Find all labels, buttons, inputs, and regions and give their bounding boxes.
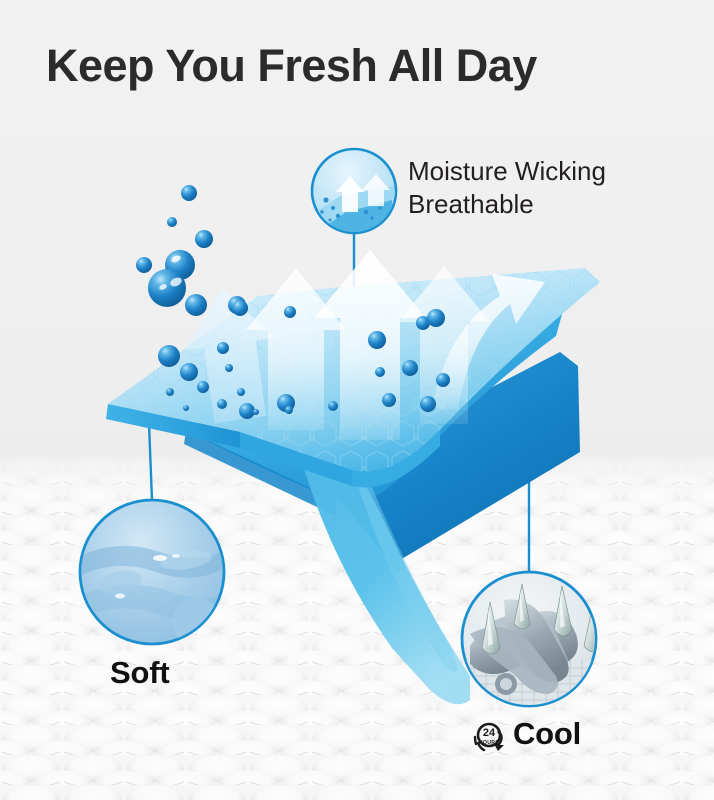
badge-unit: HOURS bbox=[479, 740, 499, 746]
infographic-canvas: Keep You Fresh All Day bbox=[0, 0, 714, 800]
cool-label: Cool bbox=[513, 716, 581, 752]
callout-soft-icon[interactable] bbox=[80, 500, 228, 646]
badge-number: 24 bbox=[483, 727, 496, 739]
fabric-layers-illustration bbox=[0, 0, 714, 800]
callout-cool-icon[interactable] bbox=[462, 572, 602, 712]
24-hours-badge-icon: 24 HOURS bbox=[470, 717, 510, 757]
connector-soft bbox=[149, 424, 152, 500]
moisture-wicking-label: Moisture Wicking Breathable bbox=[408, 155, 606, 222]
soft-label: Soft bbox=[110, 655, 169, 691]
